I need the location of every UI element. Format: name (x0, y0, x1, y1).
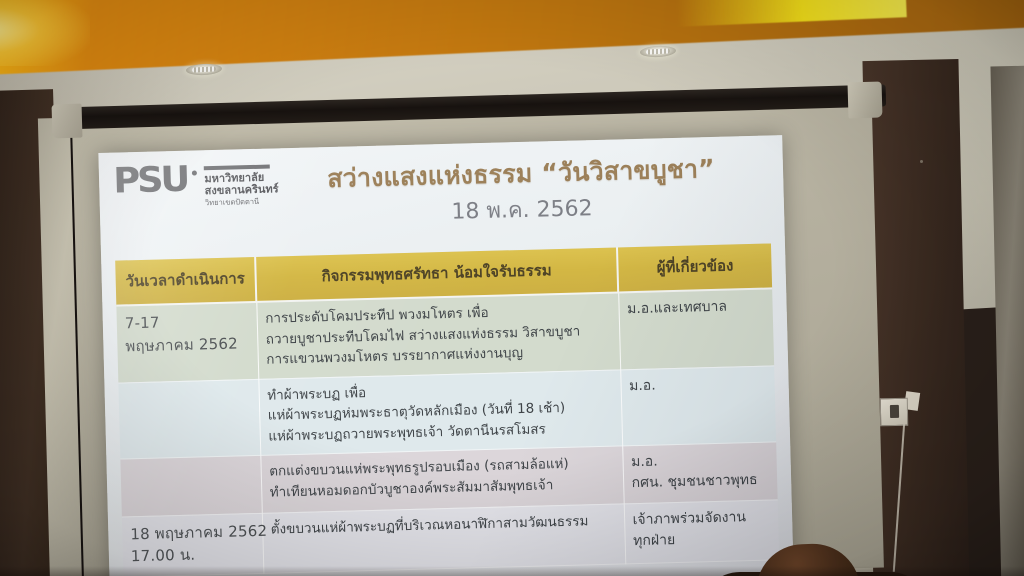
cell-participants: ม.อ.กศน. ชุมชนชาวพุทธ (622, 442, 777, 504)
cell-activity: ตั้งขบวนแห่ผ้าพระบฏที่บริเวณหอนาฬิกาสามว… (262, 504, 625, 574)
screen-case-cap-left (52, 104, 83, 139)
cell-text-line: ม.อ. (629, 372, 767, 397)
room-photo-scene: PSU มหาวิทยาลัย สงขลานครินทร์ วิทยาเขตปั… (0, 0, 1024, 576)
cell-date (118, 379, 260, 459)
table-body: 7-17พฤษภาคม 2562การประดับโคมประทีป พวงมโ… (116, 288, 779, 576)
cell-text-line: กศน. ชุมชนชาวพุทธ (631, 470, 769, 495)
wall-edge-right (990, 66, 1024, 576)
wall-nail (920, 160, 923, 163)
psu-rule-icon (204, 165, 270, 171)
cell-activity: ตกแต่งขบวนแห่พระพุทธรูปรอบเมือง (รถสามล้… (260, 446, 623, 513)
cell-text-line: 7-17 (125, 309, 249, 335)
cove-glow-left (0, 0, 90, 66)
cell-text-line: 17.00 น. (131, 543, 255, 569)
psu-logo-line2: สงขลานครินทร์ (205, 184, 279, 198)
psu-wordmark-icon: PSU (113, 165, 188, 198)
psu-logo-line3: วิทยาเขตปัตตานี (205, 196, 279, 208)
cell-text-line: ทุกฝ่าย (633, 527, 771, 552)
cell-text-line: พฤษภาคม 2562 (125, 332, 249, 358)
cell-participants: ม.อ. (620, 365, 776, 446)
cell-activity: ทำผ้าพระบฏ เพื่อแห่ผ้าพระบฏห่มพระธาตุวัด… (258, 369, 622, 455)
cell-text-line: ม.อ.และเทศบาล (627, 296, 765, 321)
column-header-date: วันเวลาดำเนินการ (115, 257, 256, 306)
schedule-table: วันเวลาดำเนินการ กิจกรรมพุทธศรัทธา น้อมใ… (115, 243, 779, 576)
cell-activity: การประดับโคมประทีป พวงมโหตร เพื่อถวายบูช… (256, 292, 620, 378)
cell-date: 7-17พฤษภาคม 2562 (116, 302, 258, 383)
psu-logo: PSU มหาวิทยาลัย สงขลานครินทร์ วิทยาเขตปั… (115, 162, 279, 210)
column-header-participants: ผู้ที่เกี่ยวข้อง (617, 243, 772, 292)
cell-text-line: 18 พฤษภาคม 2562 (130, 520, 254, 546)
cell-participants: ม.อ.และเทศบาล (618, 288, 774, 369)
bottom-shadow (0, 566, 1024, 576)
slide-header: PSU มหาวิทยาลัย สงขลานครินทร์ วิทยาเขตปั… (98, 135, 784, 257)
psu-dot-icon (192, 170, 197, 175)
presentation-slide: PSU มหาวิทยาลัย สงขลานครินทร์ วิทยาเขตปั… (98, 135, 793, 576)
screen-case-cap-right (848, 82, 883, 119)
cell-text-line: ตั้งขบวนแห่ผ้าพระบฏที่บริเวณหอนาฬิกาสามว… (271, 510, 616, 540)
cell-date (120, 455, 261, 516)
cell-participants: เจ้าภาพร่วมจัดงานทุกฝ่าย (624, 499, 780, 564)
projector-screen-surface: PSU มหาวิทยาลัย สงขลานครินทร์ วิทยาเขตปั… (98, 135, 793, 576)
